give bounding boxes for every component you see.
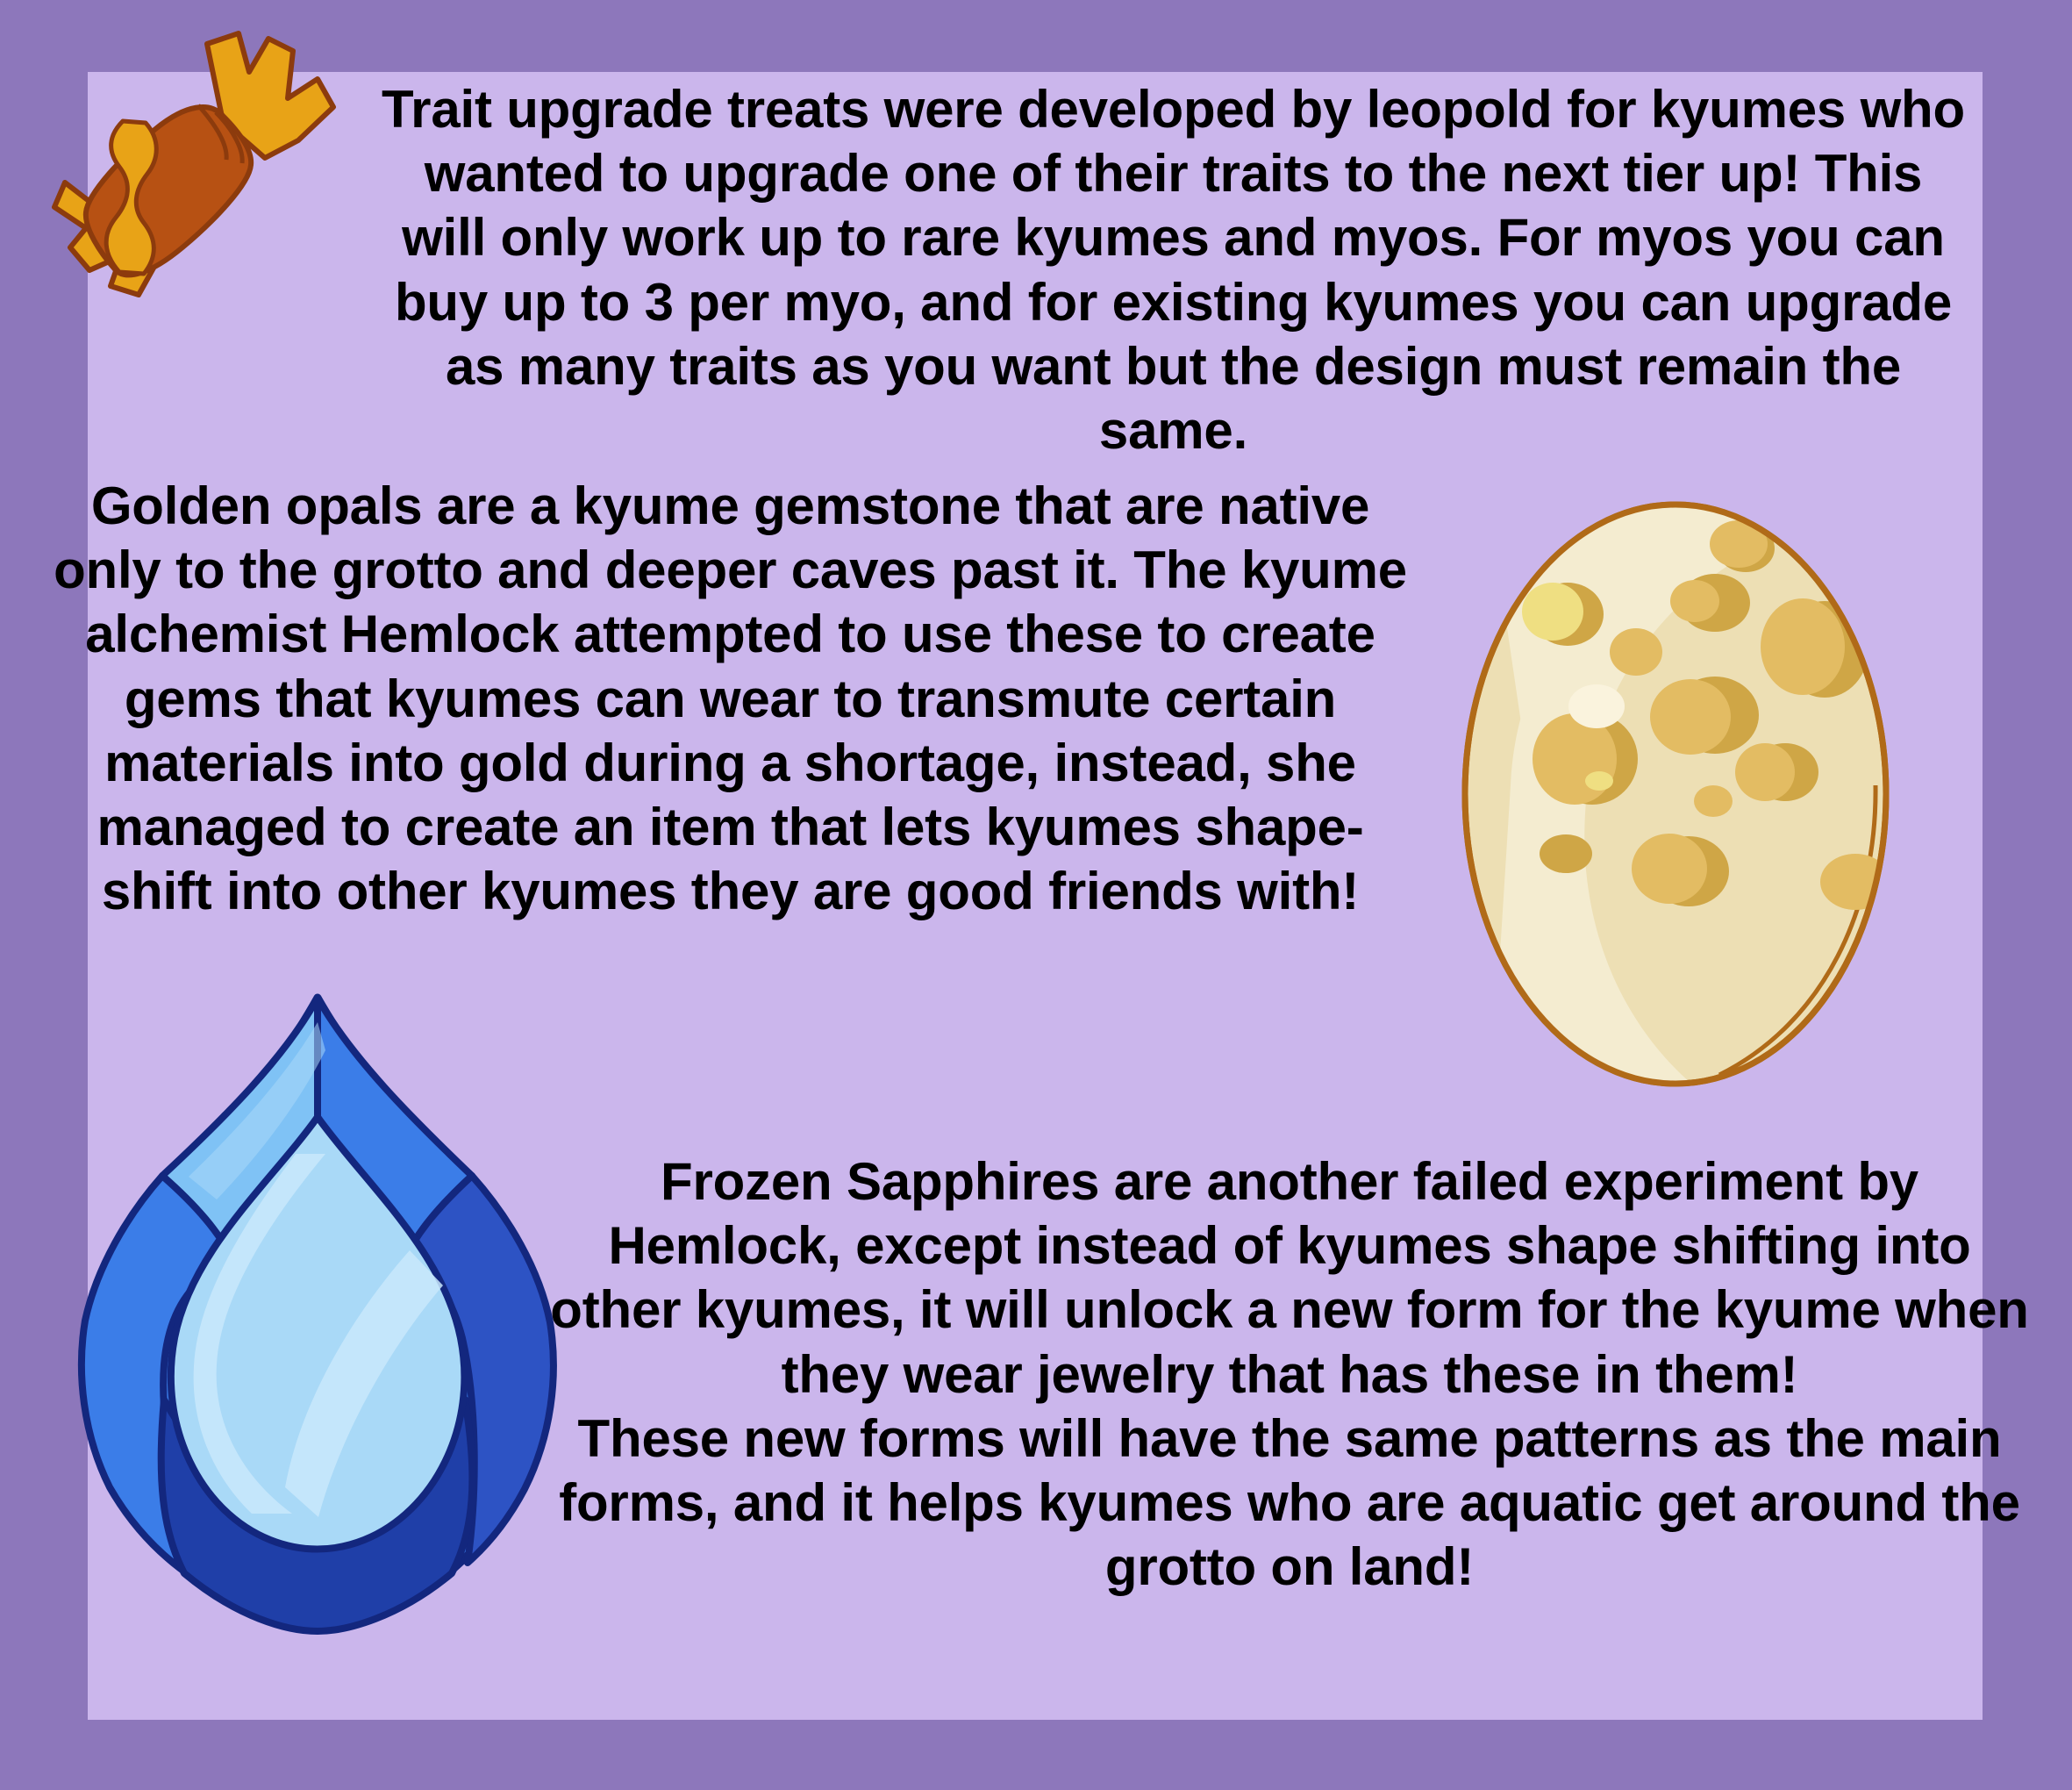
frozen-sapphires-paragraph: Frozen Sapphires are another failed expe… [544, 1149, 2035, 1599]
trait-upgrade-treat-candy-icon [35, 18, 404, 298]
page-canvas: Trait upgrade treats were developed by l… [0, 0, 2072, 1790]
golden-opal-gemstone-icon [1456, 496, 1895, 1092]
trait-treats-paragraph: Trait upgrade treats were developed by l… [377, 77, 1969, 462]
golden-opals-paragraph: Golden opals are a kyume gemstone that a… [53, 474, 1408, 923]
frozen-sapphire-gemstone-icon [66, 987, 570, 1636]
